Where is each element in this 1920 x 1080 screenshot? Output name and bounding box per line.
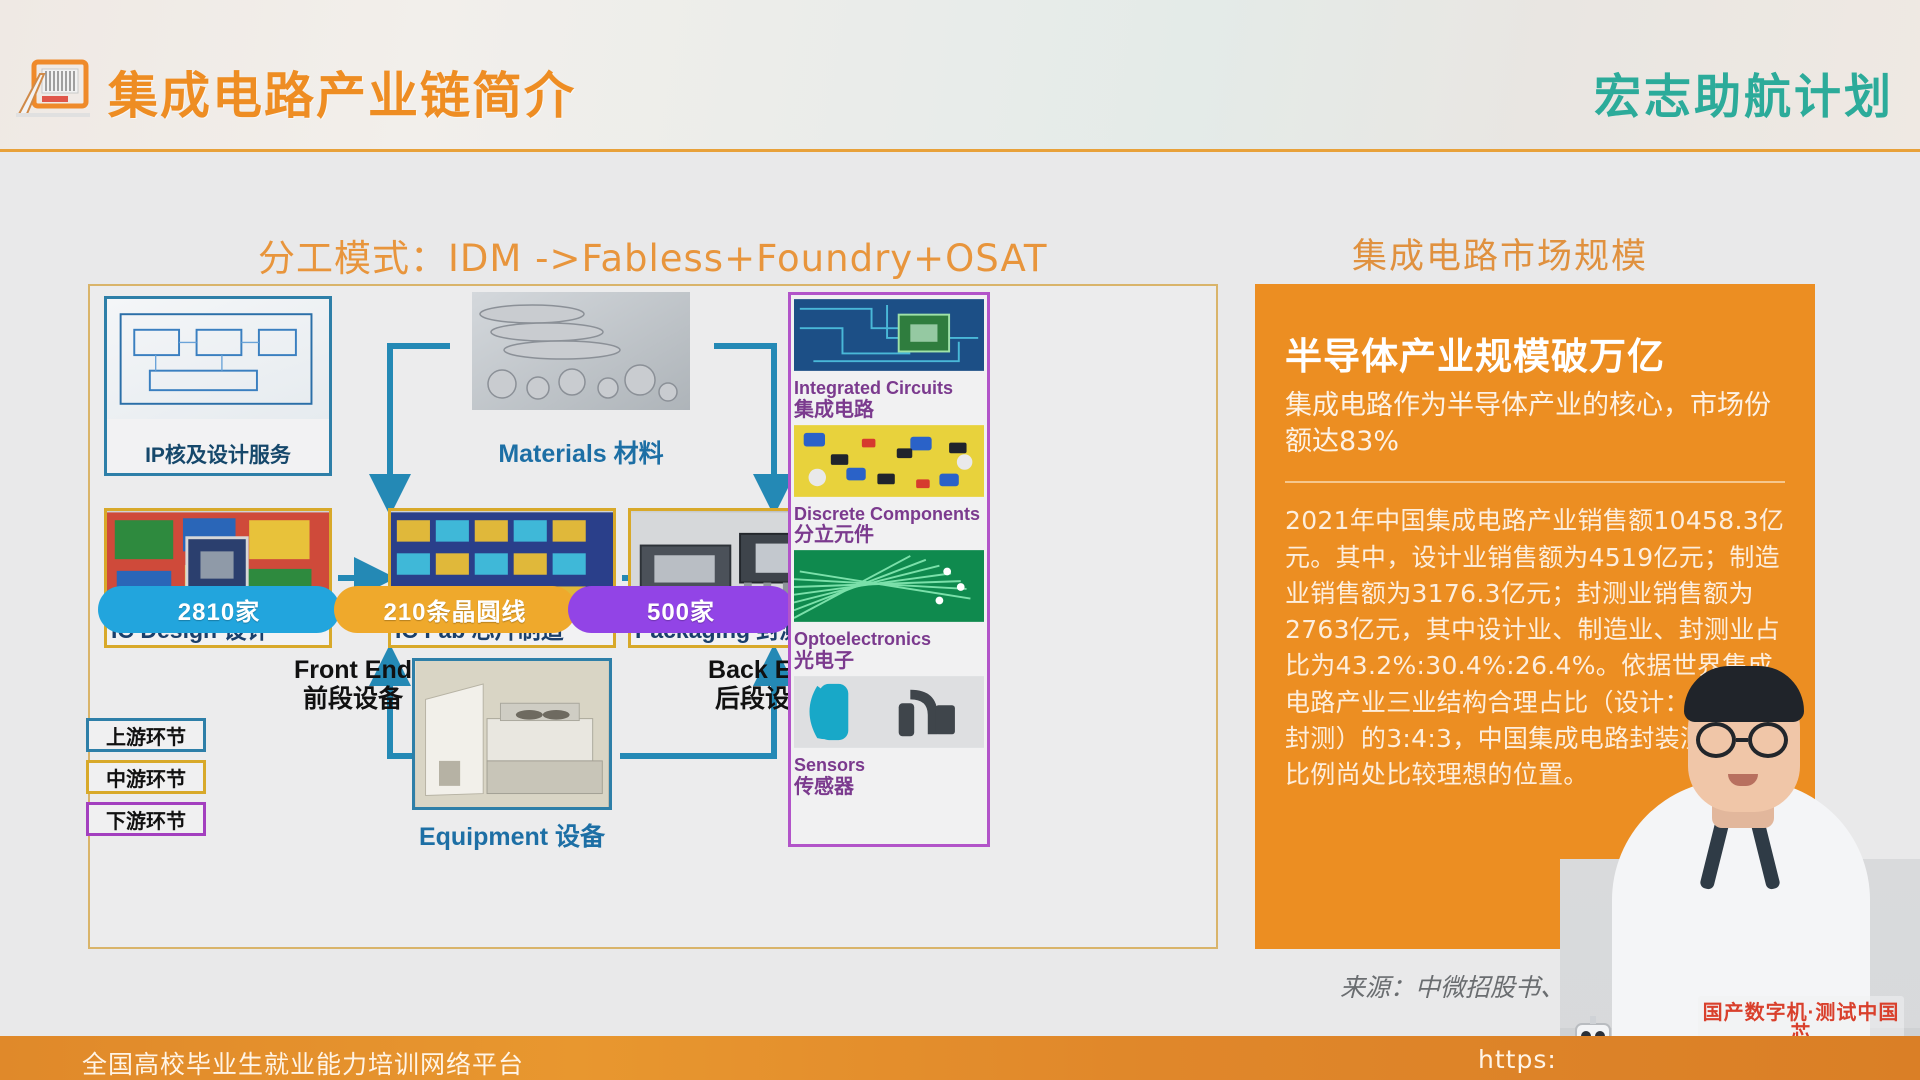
footer-platform-name: 全国高校毕业生就业能力培训网络平台 [82, 1045, 524, 1080]
product-sensors-label-en: Sensors [794, 755, 984, 776]
stat-pill-design: 2810家 [98, 586, 340, 633]
brand-title: 宏志助航计划 [1594, 58, 1894, 127]
legend-upstream: 上游环节 [86, 718, 206, 752]
subtitle-left: 分工模式：IDM ->Fabless+Foundry+OSAT [258, 228, 1048, 282]
presenter-glasses-left [1696, 722, 1736, 758]
label-front-end: Front End 前段设备 [238, 656, 468, 714]
slide-footer: 全国高校毕业生就业能力培训网络平台 https: [0, 1036, 1920, 1080]
product-discrete-label-en: Discrete Components [794, 504, 984, 525]
node-materials: Materials 材料 [472, 292, 690, 468]
product-discrete-image [794, 424, 984, 498]
product-opto-label-cn: 光电子 [794, 650, 984, 673]
product-opto-label-en: Optoelectronics [794, 629, 984, 650]
product-ic-label-en: Integrated Circuits [794, 378, 984, 399]
product-discrete-components: Discrete Components 分立元件 [794, 424, 984, 548]
market-panel-subheading: 集成电路作为半导体产业的核心，市场份额达83% [1285, 388, 1785, 459]
downstream-products-column: Integrated Circuits 集成电路 Discrete Compon… [788, 292, 990, 847]
product-integrated-circuits: Integrated Circuits 集成电路 [794, 298, 984, 422]
subtitle-right: 集成电路市场规模 [1352, 228, 1648, 279]
node-materials-label: Materials 材料 [472, 441, 690, 469]
footer-url: https: [1478, 1045, 1557, 1074]
computer-book-icon [14, 58, 94, 120]
product-optoelectronics: Optoelectronics 光电子 [794, 549, 984, 673]
label-front-end-cn: 前段设备 [303, 685, 403, 713]
value-chain-diagram: IP核及设计服务 Materials 材料 [88, 284, 1218, 949]
product-ic-image [794, 298, 984, 372]
product-sensors: Sensors 传感器 [794, 675, 984, 799]
node-ip-core-label: IP核及设计服务 [107, 444, 329, 467]
presenter-glasses-bridge [1736, 738, 1748, 742]
stat-pill-package: 500家 [568, 586, 794, 633]
presenter-hair [1684, 666, 1804, 722]
stat-pill-fab: 210条晶圆线 [334, 586, 576, 633]
market-panel-heading: 半导体产业规模破万亿 [1285, 326, 1785, 380]
node-materials-image [472, 292, 690, 410]
node-equipment-label: Equipment 设备 [412, 824, 612, 852]
label-front-end-en: Front End [294, 656, 412, 684]
legend-midstream: 中游环节 [86, 760, 206, 794]
slide-header: 集成电路产业链简介 宏志助航计划 [0, 0, 1920, 152]
divider [1285, 481, 1785, 483]
presenter-glasses-right [1748, 722, 1788, 758]
page-title: 集成电路产业链简介 [108, 56, 576, 128]
presenter-video-overlay[interactable]: 国产数字机·测试中国芯 [1560, 620, 1920, 1080]
node-ip-core-image [107, 299, 329, 419]
product-sensors-image [794, 675, 984, 749]
product-ic-label-cn: 集成电路 [794, 399, 984, 422]
legend-downstream: 下游环节 [86, 802, 206, 836]
node-ip-core: IP核及设计服务 [104, 296, 332, 476]
product-discrete-label-cn: 分立元件 [794, 524, 984, 547]
product-opto-image [794, 549, 984, 623]
product-sensors-label-cn: 传感器 [794, 776, 984, 799]
